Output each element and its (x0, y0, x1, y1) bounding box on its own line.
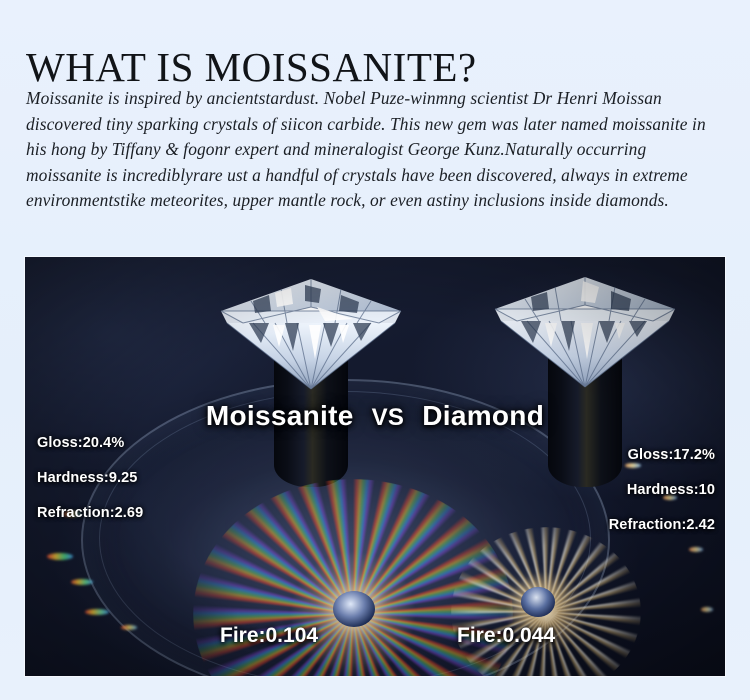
diamond-gem-icon (487, 271, 683, 394)
page-title: WHAT IS MOISSANITE? (26, 45, 477, 90)
spec-item: Hardness:10 (609, 482, 715, 498)
heading-left-gem: Moissanite (206, 400, 354, 431)
heading-right-gem: Diamond (422, 400, 544, 431)
diamond-stone (521, 587, 555, 617)
moissanite-spec-list: Gloss:20.4% Hardness:9.25 Refraction:2.6… (37, 435, 143, 521)
moissanite-fire-value: Fire:0.104 (220, 624, 318, 648)
comparison-photo: MoissaniteVSDiamond Gloss:20.4% Hardness… (25, 257, 725, 676)
moissanite-gem-icon (213, 273, 409, 396)
moissanite-stone (333, 591, 375, 627)
spec-item: Refraction:2.42 (609, 517, 715, 533)
description-paragraph: Moissanite is inspired by ancientstardus… (26, 86, 726, 214)
spec-item: Hardness:9.25 (37, 470, 143, 486)
diamond-fire-value: Fire:0.044 (457, 624, 555, 648)
heading-versus: VS (372, 404, 405, 431)
product-description-page: WHAT IS MOISSANITE? Moissanite is inspir… (0, 0, 750, 700)
spec-item: Gloss:20.4% (37, 435, 143, 451)
description-text: Moissanite is inspired by ancientstardus… (26, 86, 726, 214)
diamond-spec-list: Gloss:17.2% Hardness:10 Refraction:2.42 (609, 447, 715, 533)
spec-item: Refraction:2.69 (37, 505, 143, 521)
spec-item: Gloss:17.2% (609, 447, 715, 463)
comparison-heading: MoissaniteVSDiamond (25, 400, 725, 432)
